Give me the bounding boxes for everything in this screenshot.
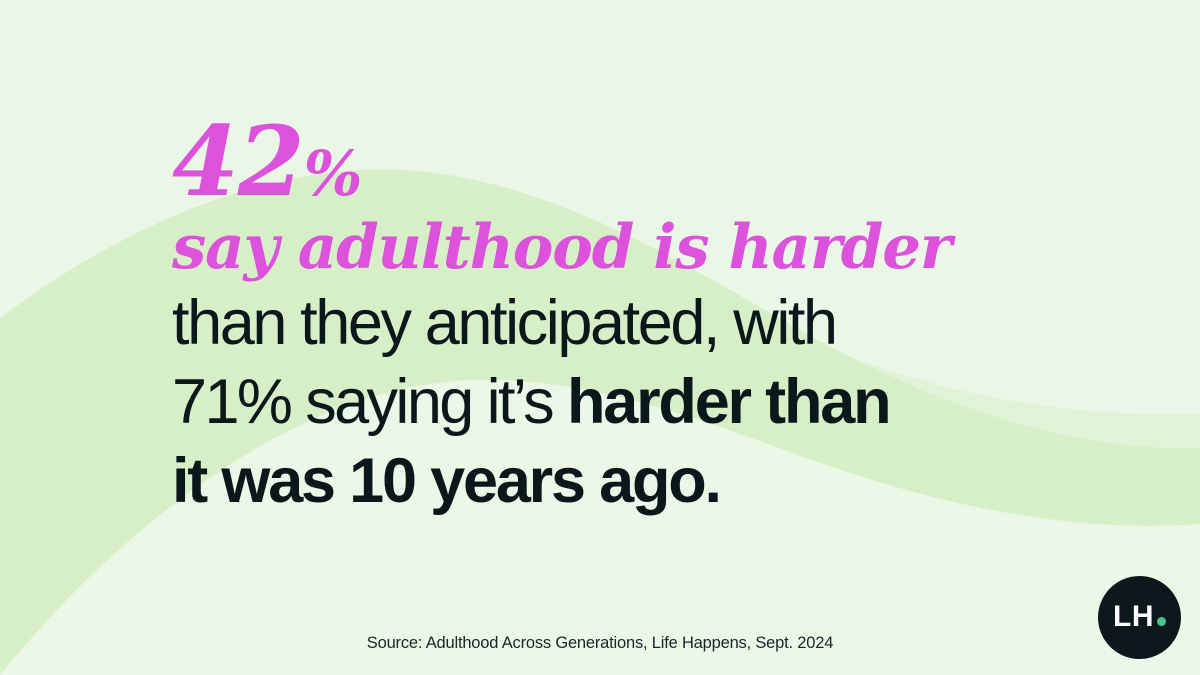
source-citation: Source: Adulthood Across Generations, Li… xyxy=(0,634,1200,653)
logo-letters: LH xyxy=(1113,602,1166,632)
life-happens-logo[interactable]: LH xyxy=(1098,576,1181,659)
headline-block: 42% say adulthood is harder than they an… xyxy=(172,118,1082,521)
headline-serif-line: say adulthood is harder xyxy=(172,212,1082,284)
logo-mark: LH xyxy=(1098,576,1181,659)
headline-line-4-bold: harder than xyxy=(567,367,889,437)
headline-line-4-regular: 71% saying it’s xyxy=(172,367,567,437)
logo-letters-text: LH xyxy=(1113,600,1154,633)
infographic-canvas: 42% say adulthood is harder than they an… xyxy=(0,0,1200,675)
headline-line-5: it was 10 years ago. xyxy=(172,442,1082,521)
headline-line-3: than they anticipated, with xyxy=(172,284,1082,363)
headline-line-4: 71% saying it’s harder than xyxy=(172,363,1082,442)
logo-dot-icon xyxy=(1157,617,1166,626)
stat-number: 42 xyxy=(172,105,304,218)
stat-line: 42% xyxy=(172,118,1082,206)
stat-percent-symbol: % xyxy=(304,137,363,210)
